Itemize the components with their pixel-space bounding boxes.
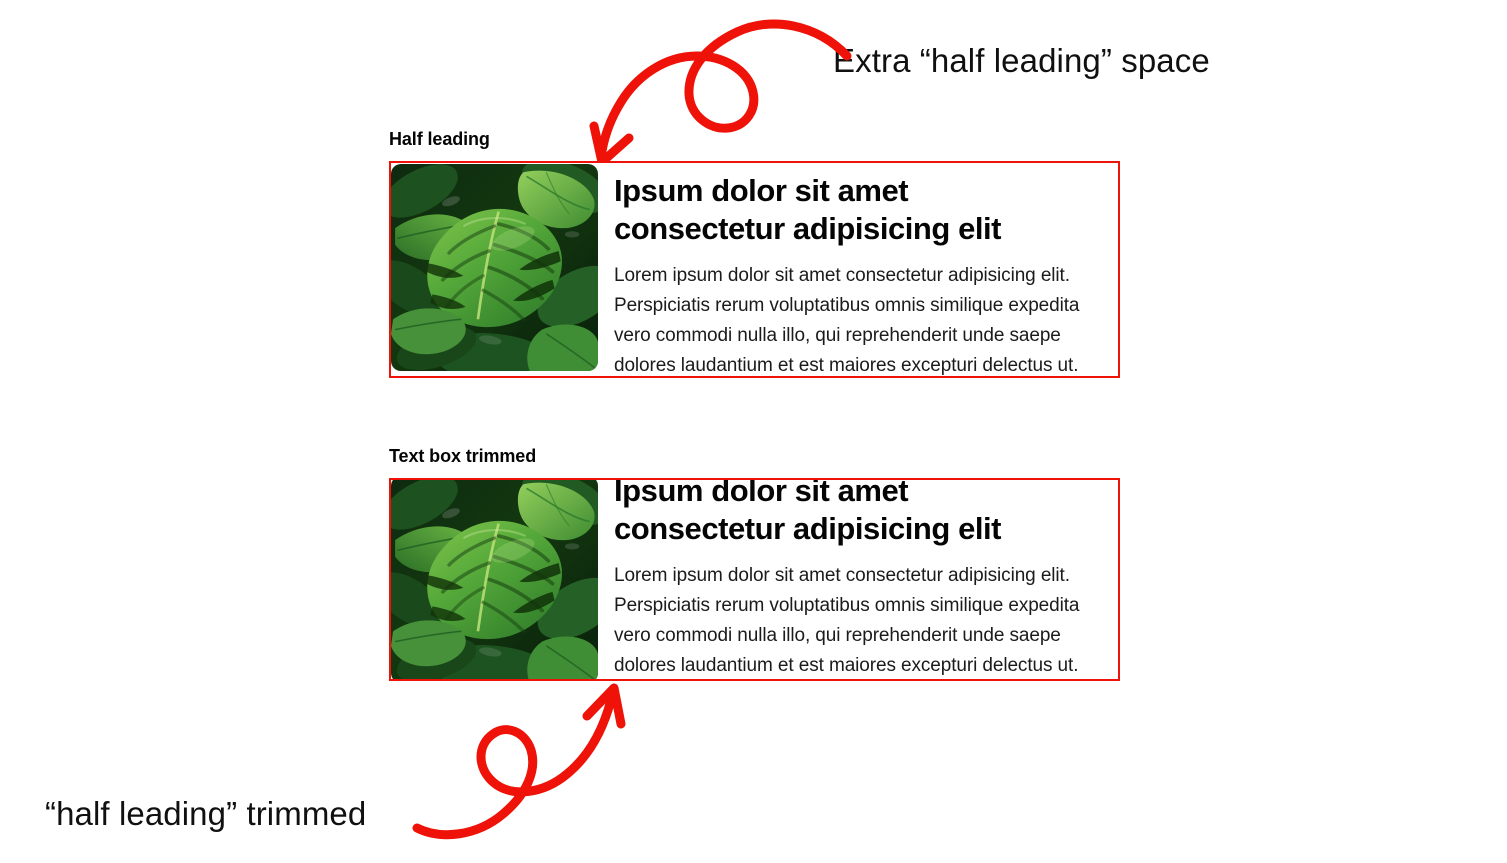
card-heading: Ipsum dolor sit amet consectetur adipisi…: [614, 172, 1044, 248]
annotation-extra-half-leading-space: Extra “half leading” space: [833, 42, 1210, 80]
annotation-half-leading-trimmed: “half leading” trimmed: [45, 795, 366, 833]
card-heading: Ipsum dolor sit amet consectetur adipisi…: [614, 478, 1044, 548]
section-label-half-leading: Half leading: [389, 129, 490, 151]
curved-loop-arrow-up-right-icon: [415, 676, 675, 841]
card-paragraph: Lorem ipsum dolor sit amet consectetur a…: [614, 261, 1100, 378]
card-body: Ipsum dolor sit amet consectetur adipisi…: [598, 480, 1118, 681]
card-body: Ipsum dolor sit amet consectetur adipisi…: [598, 163, 1118, 378]
card-half-leading: Ipsum dolor sit amet consectetur adipisi…: [389, 161, 1120, 378]
card-paragraph: Lorem ipsum dolor sit amet consectetur a…: [614, 561, 1100, 681]
leaf-photo: [391, 478, 598, 681]
illustration-stage: Extra “half leading” space Half leading: [0, 0, 1507, 863]
card-text-box-trimmed: Ipsum dolor sit amet consectetur adipisi…: [389, 478, 1120, 681]
leaf-photo: [391, 164, 598, 371]
section-label-text-box-trimmed: Text box trimmed: [389, 446, 536, 468]
curved-loop-arrow-down-left-icon: [585, 18, 855, 168]
